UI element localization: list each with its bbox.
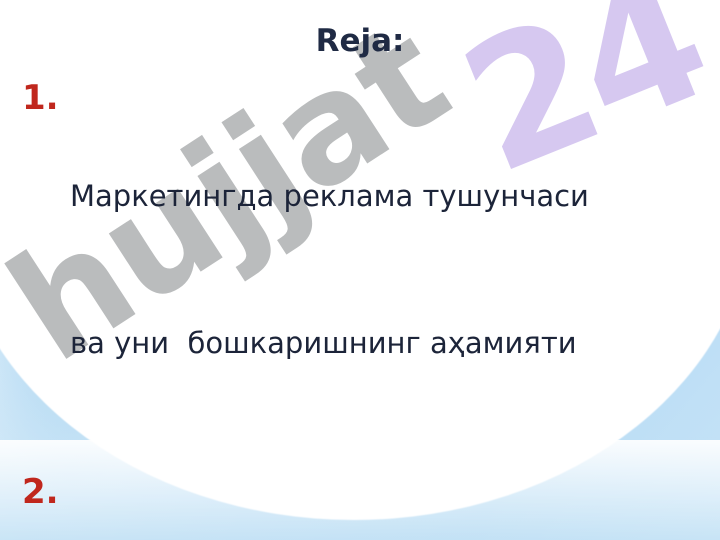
list-item-number: 2.: [22, 468, 70, 517]
presentation-slide: 24 hujjat Reja: 1. Маркетингда реклама т…: [0, 0, 720, 540]
slide-foreground: Reja: 1. Маркетингда реклама тушунчаси в…: [0, 0, 720, 540]
list-item-text: Маркетингда реклама тушунчаси ва уни бош…: [70, 74, 712, 466]
list-item: 1. Маркетингда реклама тушунчаси ва уни …: [22, 74, 712, 466]
list-item-text: Маркетингда рекламанинг мохияти: [70, 468, 712, 540]
page-title: Reja:: [0, 23, 720, 59]
list-item-line: Маркетингда реклама тушунчаси: [70, 172, 712, 221]
list-item: 2. Маркетингда рекламанинг мохияти: [22, 468, 712, 540]
list-item-line: ва уни бошкаришнинг аҳамияти: [70, 319, 712, 368]
list-item-number: 1.: [22, 74, 70, 123]
agenda-list: 1. Маркетингда реклама тушунчаси ва уни …: [22, 74, 712, 540]
